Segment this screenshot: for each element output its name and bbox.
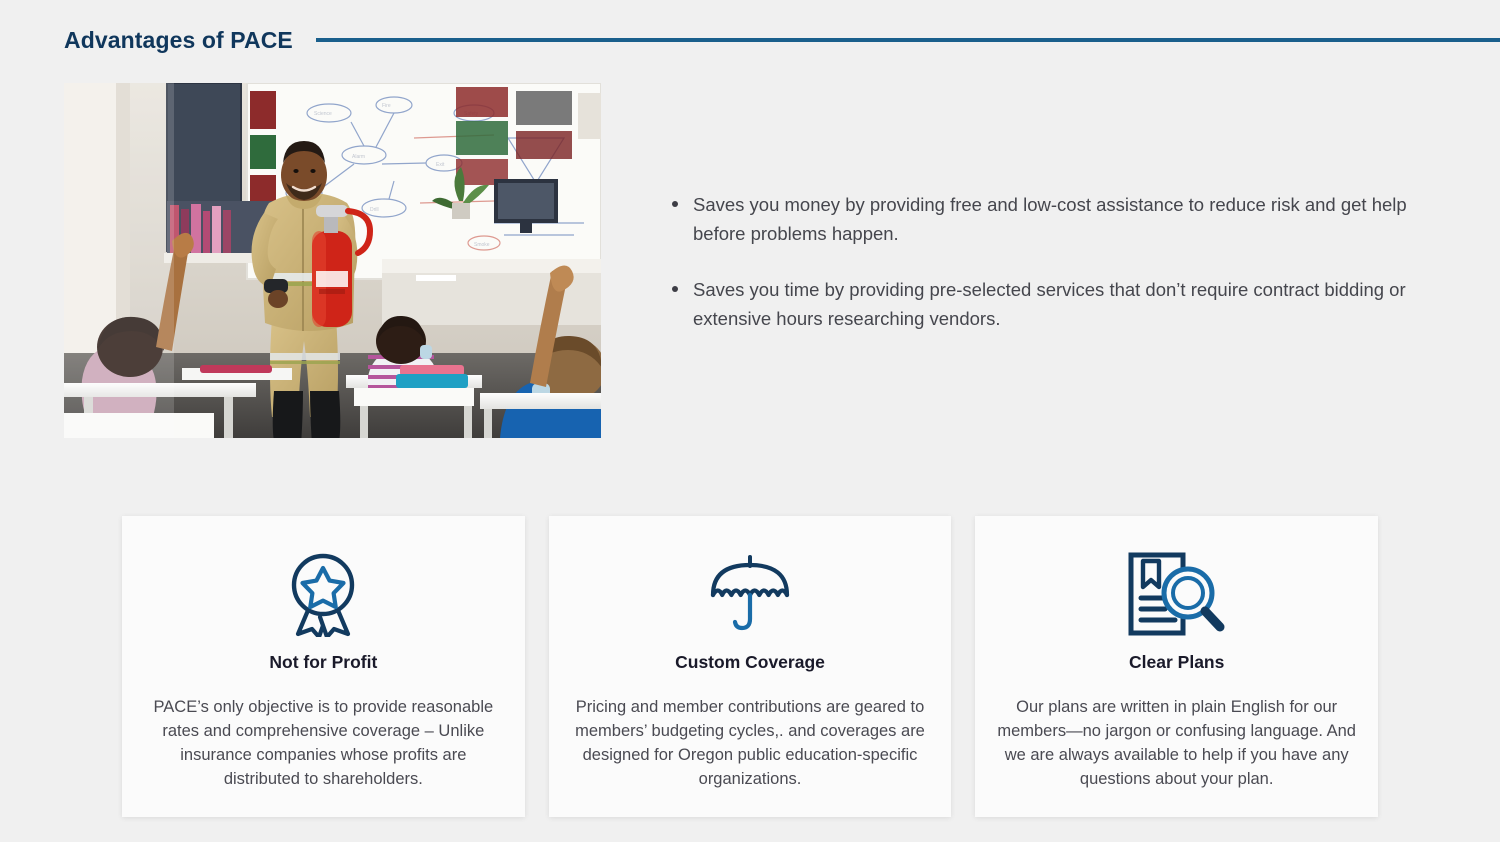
svg-text:Alarm: Alarm: [352, 154, 365, 160]
feature-card-custom-coverage: Custom Coverage Pricing and member contr…: [549, 516, 952, 817]
svg-text:Science: Science: [314, 111, 332, 117]
document-magnifier-icon: [1125, 546, 1229, 642]
card-title: Custom Coverage: [675, 652, 825, 673]
svg-text:Smoke: Smoke: [474, 242, 490, 248]
feature-card-clear-plans: Clear Plans Our plans are written in pla…: [975, 516, 1378, 817]
feature-card-grid: Not for Profit PACE’s only objective is …: [122, 516, 1378, 817]
header-divider-rule: [316, 38, 1500, 42]
card-body-text: PACE’s only objective is to provide reas…: [144, 695, 503, 791]
list-item: Saves you time by providing pre-selected…: [660, 275, 1430, 333]
svg-text:Exit: Exit: [436, 162, 445, 168]
award-ribbon-star-icon: [285, 546, 361, 642]
card-body-text: Our plans are written in plain English f…: [997, 695, 1356, 791]
card-title: Clear Plans: [1129, 652, 1224, 673]
section-header: Advantages of PACE: [0, 22, 1500, 58]
card-title: Not for Profit: [269, 652, 377, 673]
advantages-bullet-list: Saves you money by providing free and lo…: [660, 190, 1430, 333]
umbrella-icon: [707, 546, 793, 642]
card-body-text: Pricing and member contributions are gea…: [571, 695, 930, 791]
svg-text:Fire: Fire: [382, 103, 391, 109]
page-title: Advantages of PACE: [64, 29, 293, 52]
feature-card-not-for-profit: Not for Profit PACE’s only objective is …: [122, 516, 525, 817]
svg-text:Drill: Drill: [370, 207, 379, 213]
list-item: Saves you money by providing free and lo…: [660, 190, 1430, 248]
classroom-firefighter-photo: ScienceFire SafetyAlarm ExitPlan DrillSm…: [64, 83, 601, 438]
